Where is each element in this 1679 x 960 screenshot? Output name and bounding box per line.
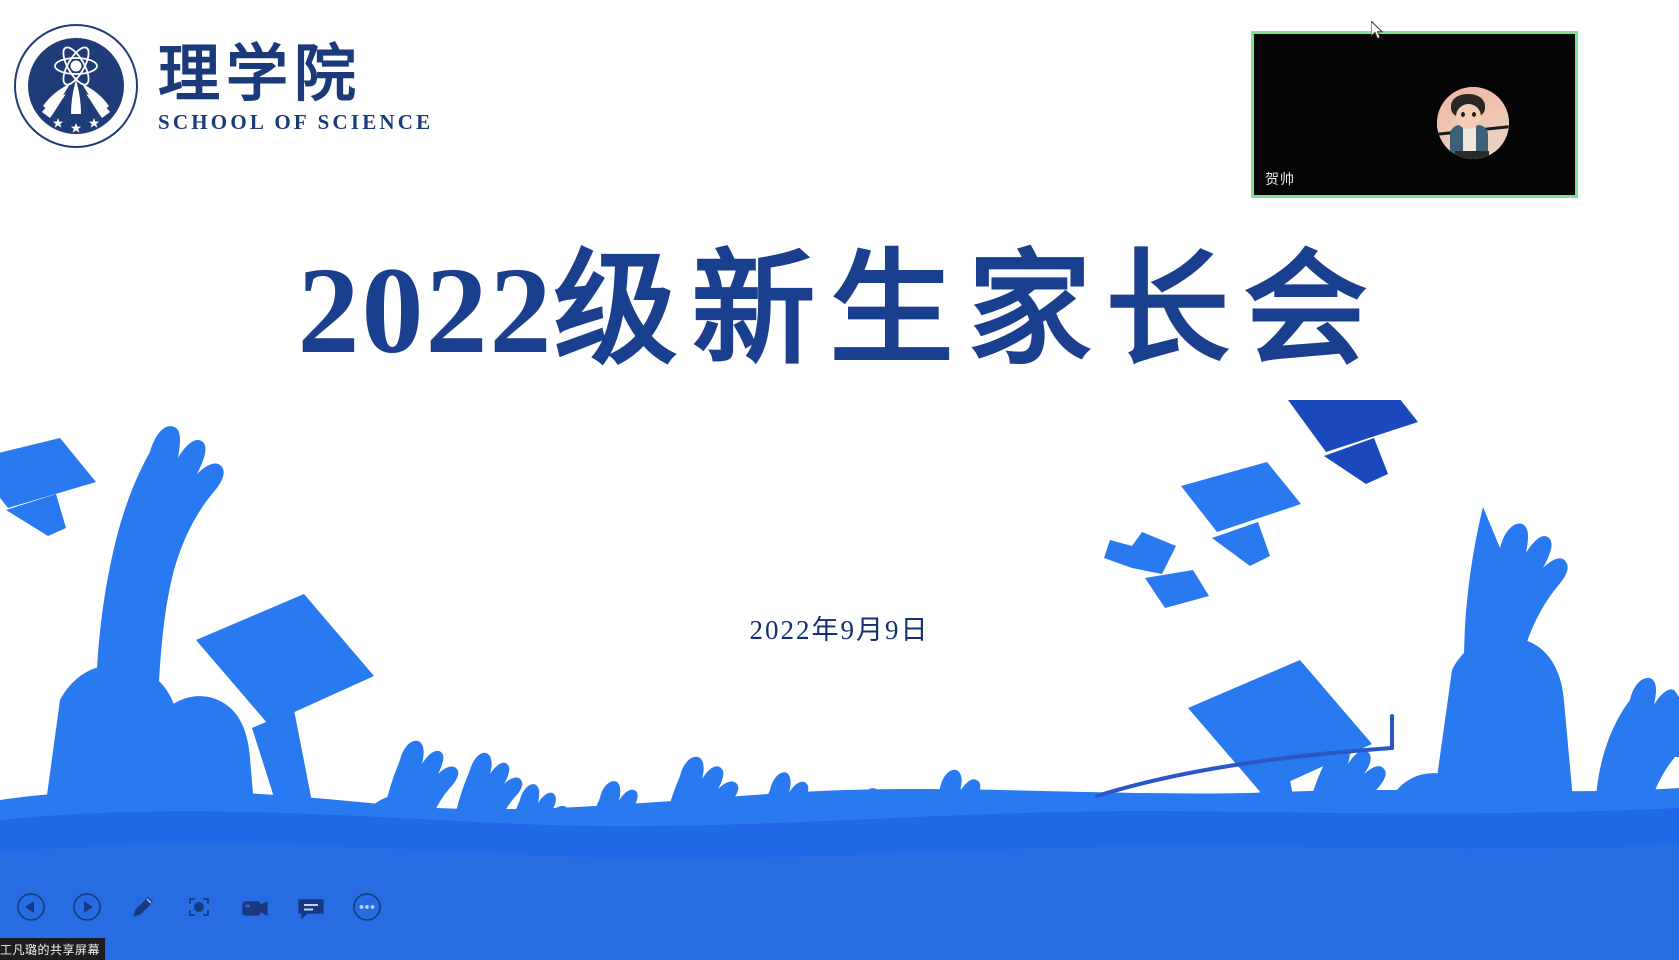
video-camera-icon[interactable]	[238, 890, 272, 924]
previous-slide-icon[interactable]	[14, 890, 48, 924]
title-year: 2022	[297, 242, 553, 379]
shared-screen-view: 内蒙古科技大学理学院 SCHOOL OF SCIENCE	[0, 0, 1679, 960]
title-rest: 级新生家长会	[553, 238, 1381, 382]
graduation-celebration-silhouette	[0, 400, 1679, 960]
presentation-toolbar	[14, 890, 384, 924]
school-of-science-emblem-icon: 内蒙古科技大学理学院 SCHOOL OF SCIENCE	[12, 22, 140, 150]
share-status-text: 工凡璐的共享屏幕	[0, 941, 100, 958]
cartoon-boy-avatar-icon	[1437, 87, 1509, 159]
more-options-icon[interactable]	[350, 890, 384, 924]
brand-logo-block: 内蒙古科技大学理学院 SCHOOL OF SCIENCE	[12, 22, 433, 150]
page-title: 2022级新生家长会	[0, 248, 1679, 373]
pen-annotate-icon[interactable]	[126, 890, 160, 924]
slide-date: 2022年9月9日	[0, 608, 1679, 647]
spotlight-focus-icon[interactable]	[182, 890, 216, 924]
participant-name-label: 贺帅	[1265, 169, 1295, 189]
next-slide-icon[interactable]	[70, 890, 104, 924]
share-status-bar: 工凡璐的共享屏幕	[0, 938, 105, 960]
mouse-pointer-icon	[1371, 21, 1385, 41]
brand-name-en: SCHOOL OF SCIENCE	[158, 110, 433, 135]
chat-bubble-icon[interactable]	[294, 890, 328, 924]
brand-name-cn: 理学院	[158, 41, 433, 106]
participant-video-panel[interactable]: 贺帅	[1251, 31, 1578, 198]
